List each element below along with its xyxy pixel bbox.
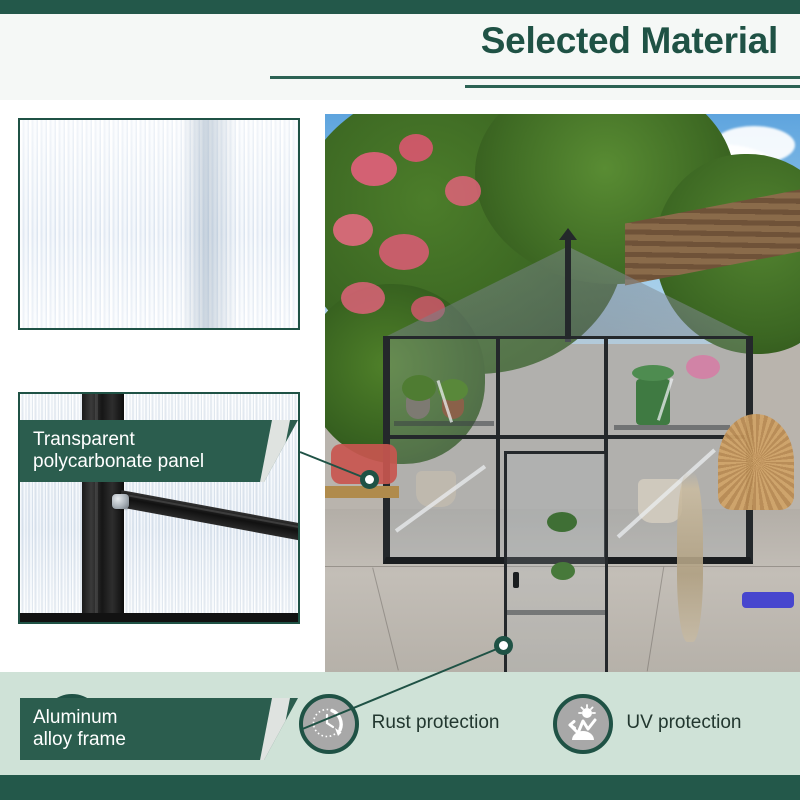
hose-tool — [742, 592, 794, 608]
greenhouse-mullion — [496, 339, 500, 557]
greenhouse-door — [504, 451, 608, 672]
interior-shelf — [614, 425, 730, 430]
blossom-cluster — [399, 134, 433, 162]
blossom-cluster — [445, 176, 481, 206]
potted-plant — [402, 375, 436, 401]
flower-cluster — [686, 355, 720, 379]
door-rail — [507, 610, 605, 615]
feature-label-rust: Rust protection — [372, 712, 500, 734]
greenhouse-body — [383, 336, 753, 564]
greenhouse-ridge — [565, 234, 571, 342]
feature-item-uv: UV protection — [545, 694, 800, 754]
greenhouse-apex-cap — [559, 228, 577, 240]
greenhouse-product-photo — [325, 114, 800, 672]
hanging-plant-foliage — [551, 562, 575, 580]
content-stage: Transparent polycarbonate panel Aluminum… — [0, 100, 800, 672]
greenhouse-structure — [383, 226, 753, 564]
blossom-cluster — [341, 282, 385, 314]
aluminum-base-rail — [20, 613, 298, 622]
panel-sheen — [181, 120, 237, 328]
door-handle-icon — [513, 572, 519, 588]
hanging-planter — [677, 472, 703, 642]
bottom-accent-bar — [0, 775, 800, 800]
greenhouse-roof-left — [383, 246, 569, 338]
top-accent-bar — [0, 0, 800, 14]
page-header: Selected Material — [0, 14, 800, 100]
title-underline-secondary — [465, 85, 800, 88]
blossom-cluster — [333, 214, 373, 246]
hanging-plant-foliage — [547, 512, 577, 532]
page-title: Selected Material — [481, 22, 778, 59]
rattan-chair — [718, 414, 794, 510]
title-underline-primary — [270, 76, 800, 79]
feature-label-uv: UV protection — [626, 712, 741, 734]
potted-plant — [632, 365, 674, 381]
blossom-cluster — [351, 152, 397, 186]
greenhouse-transom — [386, 435, 750, 439]
wooden-bench — [325, 486, 399, 498]
feature-item-rust: Rust protection — [289, 694, 546, 754]
ribbon-label-aluminum: Aluminum alloy frame — [20, 698, 298, 760]
callout-dot-aluminum — [494, 636, 513, 655]
detail-panel-polycarbonate — [18, 118, 300, 330]
bolt-icon — [112, 494, 129, 509]
sun-shield-icon — [553, 694, 613, 754]
ribbon-label-polycarbonate: Transparent polycarbonate panel — [20, 420, 298, 482]
polycarbonate-texture — [20, 120, 298, 328]
interior-shelf — [394, 421, 494, 426]
callout-dot-polycarbonate — [360, 470, 379, 489]
greenhouse-roof-right — [567, 246, 753, 338]
clock-arrow-icon — [299, 694, 359, 754]
